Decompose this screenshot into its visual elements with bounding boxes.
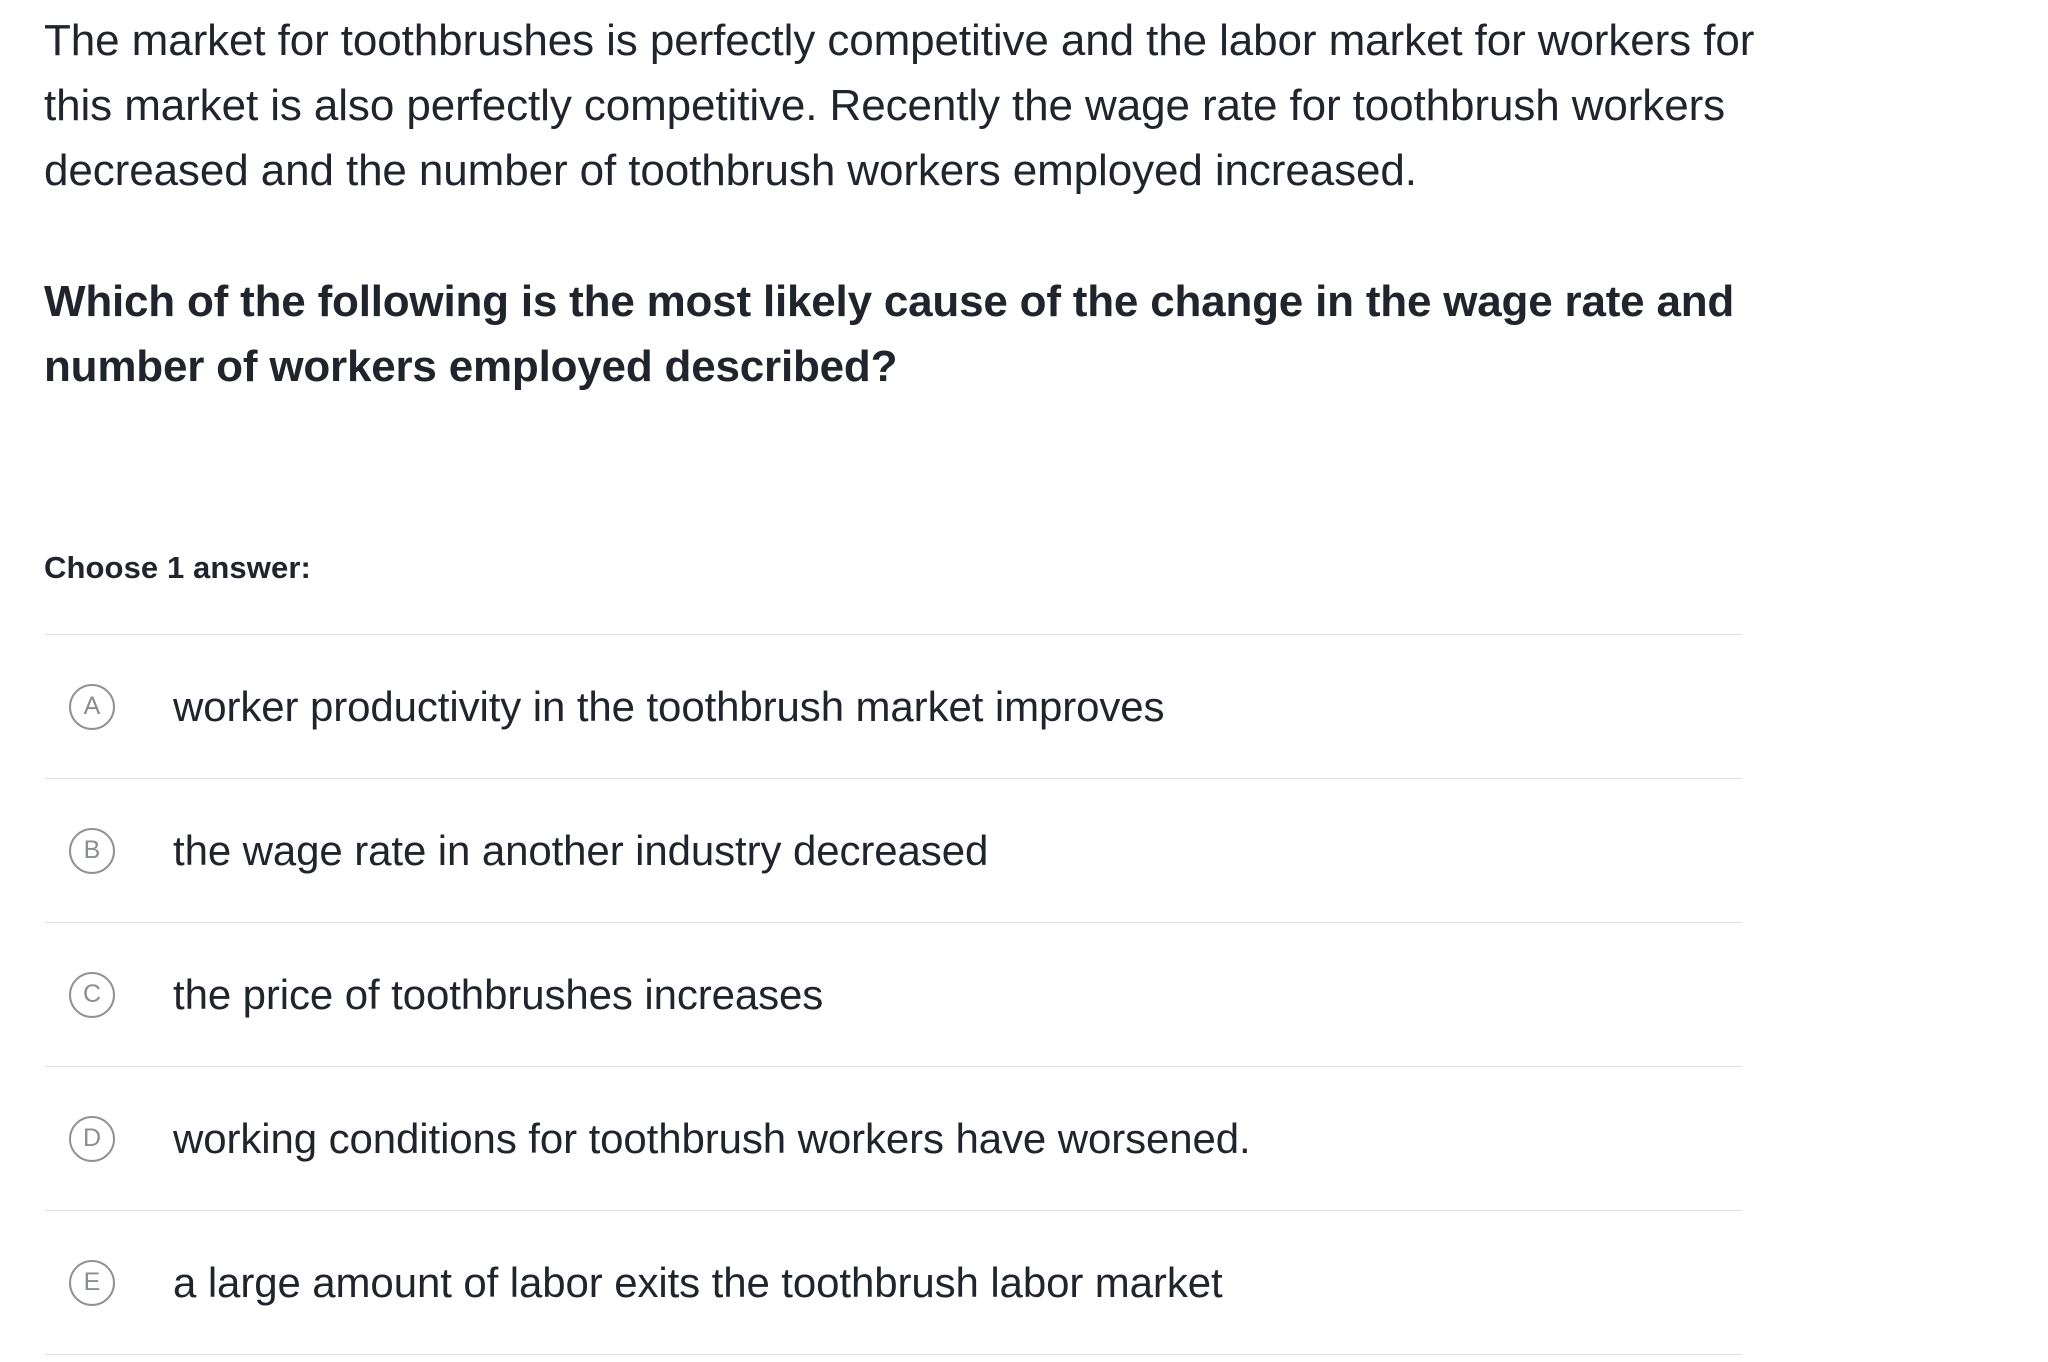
choice-letter-c: C xyxy=(83,982,101,1007)
choice-text-e: a large amount of labor exits the toothb… xyxy=(173,1257,1223,1309)
choice-text-c: the price of toothbrushes increases xyxy=(173,969,823,1021)
answer-choice-e[interactable]: E a large amount of labor exits the toot… xyxy=(45,1211,1742,1354)
choice-letter-d: D xyxy=(83,1126,101,1151)
choose-answer-label: Choose 1 answer: xyxy=(44,549,311,587)
choice-letter-b: B xyxy=(84,838,101,863)
question-stem-block: The market for toothbrushes is perfectly… xyxy=(44,8,1834,399)
choice-divider xyxy=(45,1354,1742,1355)
question-prompt-text: Which of the following is the most likel… xyxy=(44,203,1804,399)
choice-letter-badge-a[interactable]: A xyxy=(69,684,115,730)
choice-letter-badge-d[interactable]: D xyxy=(69,1116,115,1162)
answer-choice-c[interactable]: C the price of toothbrushes increases xyxy=(45,923,1742,1066)
answer-choice-b[interactable]: B the wage rate in another industry decr… xyxy=(45,779,1742,922)
choice-text-d: working conditions for toothbrush worker… xyxy=(173,1113,1251,1165)
choice-letter-badge-e[interactable]: E xyxy=(69,1260,115,1306)
choice-letter-badge-c[interactable]: C xyxy=(69,972,115,1018)
choice-text-a: worker productivity in the toothbrush ma… xyxy=(173,681,1164,733)
choice-letter-badge-b[interactable]: B xyxy=(69,828,115,874)
answer-choice-d[interactable]: D working conditions for toothbrush work… xyxy=(45,1067,1742,1210)
choice-letter-a: A xyxy=(84,694,101,719)
question-stem-text: The market for toothbrushes is perfectly… xyxy=(44,8,1834,203)
exercise-page: The market for toothbrushes is perfectly… xyxy=(0,0,2048,1362)
choice-letter-e: E xyxy=(84,1270,101,1295)
choice-text-b: the wage rate in another industry decrea… xyxy=(173,825,988,877)
answer-choice-a[interactable]: A worker productivity in the toothbrush … xyxy=(45,635,1742,778)
answer-choices-list: A worker productivity in the toothbrush … xyxy=(45,634,1742,1355)
